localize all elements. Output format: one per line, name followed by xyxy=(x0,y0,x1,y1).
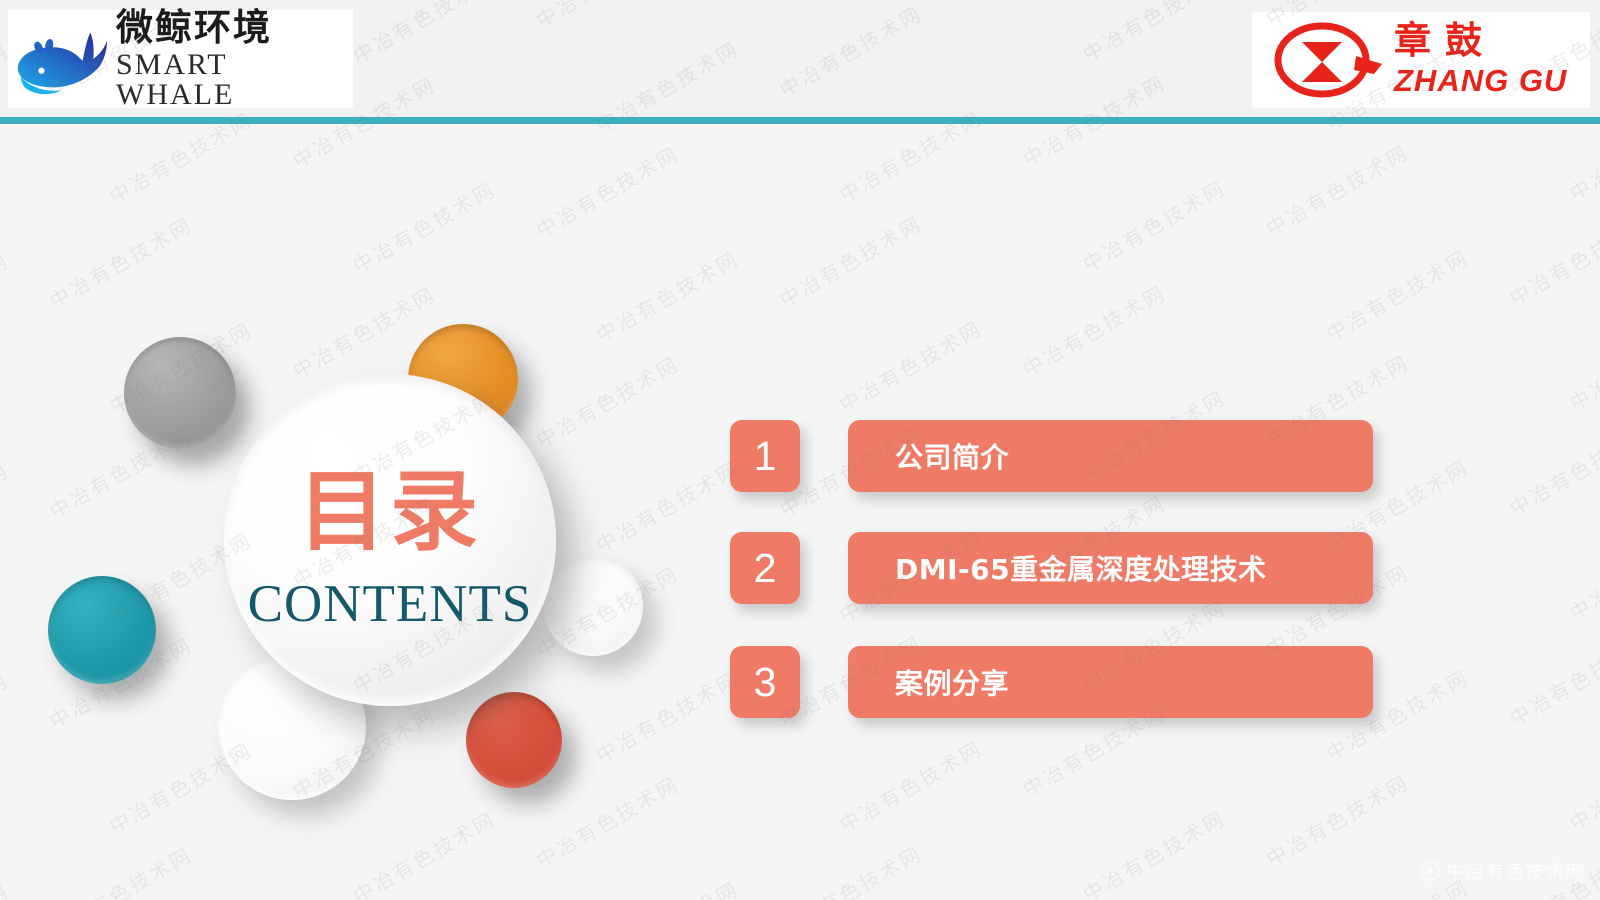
corner-watermark-text: 中冶有色技术网 xyxy=(1446,858,1586,884)
watermark-badge-icon xyxy=(1420,861,1440,881)
contents-title-cn: 目录 xyxy=(298,468,482,556)
zhanggu-wordmark: 章鼓 ZHANG GU xyxy=(1394,22,1584,96)
smart-whale-logo: 微鲸环境 SMART WHALE xyxy=(8,10,353,108)
zhanggu-logo: 章鼓 ZHANG GU xyxy=(1252,12,1590,108)
agenda-label-3: 案例分享 xyxy=(895,662,1009,702)
partner-name-en: ZHANG GU xyxy=(1394,65,1584,96)
contents-badge: 目录 CONTENTS xyxy=(224,374,556,706)
red-circle xyxy=(466,692,562,788)
agenda-number-1: 1 xyxy=(730,420,800,492)
gray-circle xyxy=(124,337,236,449)
agenda-item-2[interactable]: 2 DMI-65重金属深度处理技术 xyxy=(730,532,1373,604)
teal-circle xyxy=(48,576,156,684)
agenda-number-2: 2 xyxy=(730,532,800,604)
header-divider xyxy=(0,117,1600,124)
agenda-label-1: 公司简介 xyxy=(895,436,1009,476)
agenda-label-2: DMI-65重金属深度处理技术 xyxy=(895,548,1267,588)
contents-title-en: CONTENTS xyxy=(248,578,533,631)
brand-name-cn: 微鲸环境 xyxy=(116,9,353,46)
zhanggu-triangle-icon xyxy=(1270,20,1390,100)
partner-name-cn: 章鼓 xyxy=(1394,22,1584,59)
slide-canvas: 目录 CONTENTS 1 公司简介 2 DMI-65重金属深度处理技术 3 案… xyxy=(0,0,1600,900)
agenda-bar-1[interactable]: 公司简介 xyxy=(848,420,1373,492)
agenda-item-1[interactable]: 1 公司简介 xyxy=(730,420,1373,492)
whale-icon xyxy=(12,15,110,103)
smart-whale-wordmark: 微鲸环境 SMART WHALE xyxy=(116,9,353,110)
white-circle-right xyxy=(543,556,643,656)
corner-watermark: 中冶有色技术网 xyxy=(1420,858,1586,884)
agenda-number-3: 3 xyxy=(730,646,800,718)
agenda-bar-2[interactable]: DMI-65重金属深度处理技术 xyxy=(848,532,1373,604)
brand-name-en: SMART WHALE xyxy=(116,50,353,110)
agenda-bar-3[interactable]: 案例分享 xyxy=(848,646,1373,718)
slide-body: 目录 CONTENTS 1 公司简介 2 DMI-65重金属深度处理技术 3 案… xyxy=(0,124,1600,900)
agenda-item-3[interactable]: 3 案例分享 xyxy=(730,646,1373,718)
